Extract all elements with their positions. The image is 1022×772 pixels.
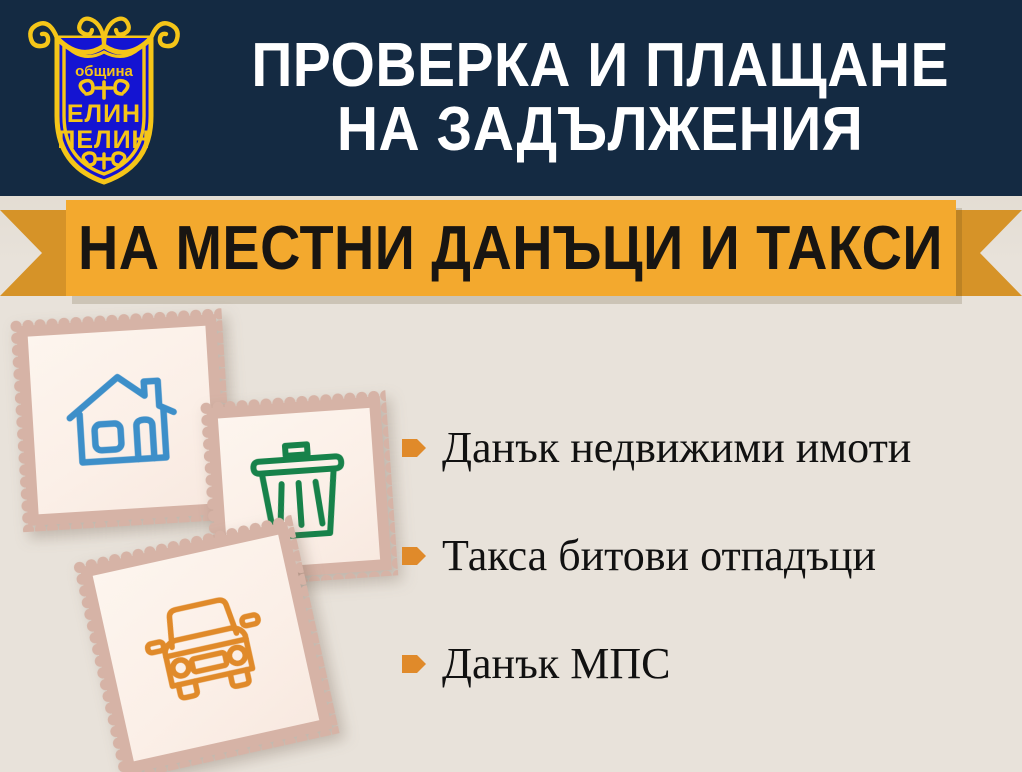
list-item: Такса битови отпадъци — [400, 528, 1010, 584]
title-line-1: ПРОВЕРКА И ПЛАЩАНЕ — [251, 34, 949, 98]
ribbon-text: НА МЕСТНИ ДАНЪЦИ И ТАКСИ — [79, 213, 944, 284]
stamp-inner — [28, 326, 217, 515]
list-item-label: Данък МПС — [442, 642, 670, 686]
page-title: ПРОВЕРКА И ПЛАЩАНЕ НА ЗАДЪЛЖЕНИЯ — [190, 14, 1010, 182]
title-line-2: НА ЗАДЪЛЖЕНИЯ — [337, 98, 863, 162]
arrow-bullet-icon — [400, 651, 428, 677]
municipality-logo: община ЕЛИН ПЕЛИН — [24, 8, 184, 190]
list-item: Данък МПС — [400, 636, 1010, 692]
logo-top-label: община — [75, 63, 133, 80]
subtitle-ribbon: НА МЕСТНИ ДАНЪЦИ И ТАКСИ — [0, 200, 1022, 304]
header-bar: община ЕЛИН ПЕЛИН ПРОВ — [0, 0, 1022, 196]
car-front-icon — [133, 584, 279, 713]
list-item-label: Данък недвижими имоти — [442, 426, 911, 470]
list-item: Данък недвижими имоти — [400, 420, 1010, 476]
poster-canvas: община ЕЛИН ПЕЛИН ПРОВ — [0, 0, 1022, 772]
arrow-bullet-icon — [400, 543, 428, 569]
tax-types-list: Данък недвижими имоти Такса битови отпад… — [400, 420, 1010, 744]
stamp-frame — [72, 514, 339, 772]
house-icon — [59, 361, 185, 478]
arrow-bullet-icon — [400, 435, 428, 461]
logo-name-line1: ЕЛИН — [67, 100, 141, 128]
logo-name-line2: ПЕЛИН — [57, 126, 150, 154]
ribbon-banner: НА МЕСТНИ ДАНЪЦИ И ТАКСИ — [66, 200, 956, 296]
list-item-label: Такса битови отпадъци — [442, 534, 876, 578]
stamp-card-vehicle — [72, 514, 339, 772]
stamp-inner — [93, 535, 320, 762]
